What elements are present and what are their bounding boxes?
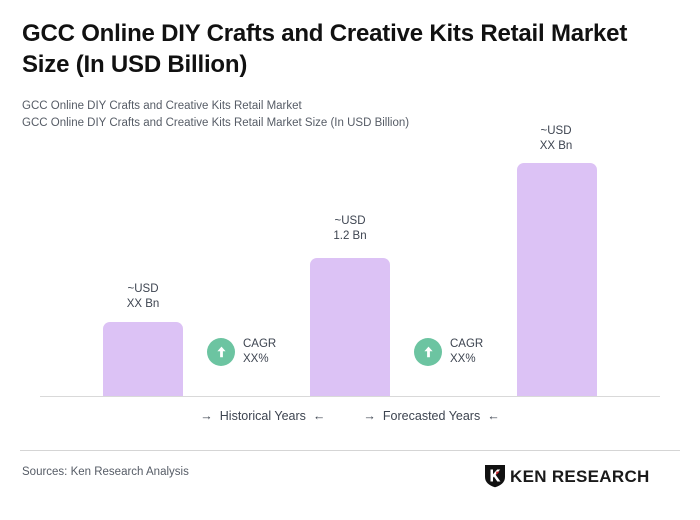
cagr-badge-forecast: CAGR XX%	[414, 337, 483, 366]
sources-text: Sources: Ken Research Analysis	[22, 466, 189, 478]
forecasted-years-group: → Forecasted Years ←	[363, 409, 499, 423]
footer-divider	[20, 450, 680, 451]
logo-text: KEN RESEARCH	[510, 468, 650, 485]
bar-value-label-line2: XX Bn	[496, 139, 616, 154]
bar-value-label-line2: XX Bn	[83, 297, 203, 312]
ken-research-logo: KEN RESEARCH	[484, 464, 650, 488]
arrow-left-icon: ←	[487, 410, 500, 423]
ken-research-shield-icon	[484, 464, 506, 488]
forecasted-years-label: Forecasted Years	[383, 409, 480, 423]
cagr-label: CAGR	[450, 337, 483, 352]
cagr-value: XX%	[450, 352, 483, 367]
bar-value-label-line1: ~USD	[290, 214, 410, 229]
axis-baseline	[40, 396, 660, 397]
chart-slide: GCC Online DIY Crafts and Creative Kits …	[0, 0, 700, 520]
years-legend: → Historical Years ← → Forecasted Years …	[0, 409, 700, 423]
arrow-right-icon: →	[200, 410, 213, 423]
bar-value-label: ~USD 1.2 Bn	[290, 214, 410, 243]
cagr-badge-historical: CAGR XX%	[207, 337, 276, 366]
arrow-right-icon: →	[363, 410, 376, 423]
historical-years-group: → Historical Years ←	[200, 409, 325, 423]
bar-value-label: ~USD XX Bn	[83, 282, 203, 311]
bar-value-label-line1: ~USD	[83, 282, 203, 297]
cagr-badge-text: CAGR XX%	[450, 337, 483, 366]
plot-area: ~USD XX Bn ~USD 1.2 Bn ~USD XX Bn CAGR X…	[0, 0, 700, 440]
bar-value-label-line2: 1.2 Bn	[290, 229, 410, 244]
bar-value-label-line1: ~USD	[496, 124, 616, 139]
arrow-up-icon	[207, 338, 235, 366]
arrow-left-icon: ←	[313, 410, 326, 423]
arrow-up-icon	[414, 338, 442, 366]
bar-base[interactable]	[310, 258, 390, 396]
historical-years-label: Historical Years	[220, 409, 306, 423]
bar-value-label: ~USD XX Bn	[496, 124, 616, 153]
bar-forecast[interactable]	[517, 163, 597, 396]
bar-historical[interactable]	[103, 322, 183, 396]
cagr-badge-text: CAGR XX%	[243, 337, 276, 366]
cagr-value: XX%	[243, 352, 276, 367]
cagr-label: CAGR	[243, 337, 276, 352]
